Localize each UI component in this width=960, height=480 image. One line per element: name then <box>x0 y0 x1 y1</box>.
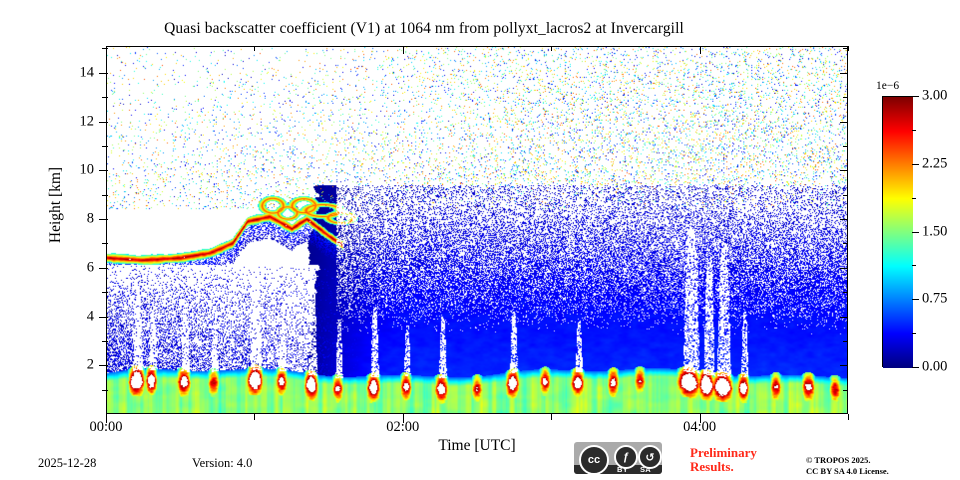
plot-area[interactable] <box>106 46 848 414</box>
cc-by-label: BY <box>617 465 628 474</box>
y-tick-label: 8 <box>52 211 94 228</box>
y-tick-label: 10 <box>52 162 94 179</box>
y-tick-minor-right <box>843 146 848 147</box>
y-tick-minor-right <box>843 390 848 391</box>
footer-version: Version: 4.0 <box>192 456 252 471</box>
y-tick-minor <box>102 146 108 147</box>
copyright-line-2: CC BY SA 4.0 License. <box>806 466 889 477</box>
colorbar-tick-minor <box>912 198 916 199</box>
colorbar-tick-label: 3.00 <box>922 88 947 105</box>
colorbar-tick-minor <box>912 333 916 334</box>
y-tick-major-right <box>840 268 848 269</box>
y-tick-major-right <box>840 219 848 220</box>
y-tick-minor <box>102 390 108 391</box>
y-tick-minor <box>102 97 108 98</box>
preliminary-line-1: Preliminary <box>690 446 757 460</box>
colorbar-tick <box>912 164 919 165</box>
page-title: Quasi backscatter coefficient (V1) at 10… <box>0 20 848 38</box>
preliminary-notice: Preliminary Results. <box>690 446 757 474</box>
y-tick-label: 14 <box>52 64 94 81</box>
colorbar-tick <box>912 367 919 368</box>
y-tick-minor-right <box>843 97 848 98</box>
y-tick-major <box>99 268 108 269</box>
y-tick-major <box>99 317 108 318</box>
y-tick-major-right <box>840 122 848 123</box>
y-tick-minor-right <box>843 243 848 244</box>
y-tick-major-right <box>840 170 848 171</box>
figure-canvas: Quasi backscatter coefficient (V1) at 10… <box>0 0 960 480</box>
y-tick-major <box>99 219 108 220</box>
y-tick-major <box>99 73 108 74</box>
y-tick-minor <box>102 243 108 244</box>
y-tick-minor <box>102 292 108 293</box>
colorbar-tick <box>912 232 919 233</box>
y-tick-minor <box>102 195 108 196</box>
y-tick-minor-right <box>843 195 848 196</box>
cc-logo-icon: cc <box>579 445 609 474</box>
y-tick-major-right <box>840 73 848 74</box>
colorbar-gradient <box>882 96 912 367</box>
y-tick-major-right <box>840 365 848 366</box>
cc-license-badge[interactable]: cc ƒ ↺ BY SA <box>574 442 662 474</box>
y-tick-minor <box>102 48 108 49</box>
y-tick-major <box>99 122 108 123</box>
colorbar-exponent: 1e−6 <box>876 80 899 92</box>
x-tick-major-top <box>700 46 701 54</box>
y-tick-minor <box>102 341 108 342</box>
x-tick-label: 04:00 <box>683 419 716 436</box>
preliminary-line-2: Results. <box>690 460 757 474</box>
x-tick-minor <box>551 414 552 420</box>
lidar-quicklook-heatmap[interactable] <box>107 47 847 413</box>
copyright-notice: © TROPOS 2025. CC BY SA 4.0 License. <box>806 455 889 477</box>
colorbar[interactable]: 0.000.751.502.253.00 <box>882 96 912 367</box>
x-tick-minor <box>848 414 849 420</box>
x-tick-minor-top <box>848 46 849 51</box>
y-tick-major <box>99 365 108 366</box>
x-tick-minor-top <box>551 46 552 51</box>
x-tick-major-top <box>403 46 404 54</box>
copyright-line-1: © TROPOS 2025. <box>806 455 889 466</box>
colorbar-tick-label: 1.50 <box>922 223 947 240</box>
colorbar-tick-minor <box>912 130 916 131</box>
cc-sa-label: SA <box>640 465 651 474</box>
colorbar-tick-minor <box>912 265 916 266</box>
x-tick-label: 00:00 <box>89 419 122 436</box>
colorbar-canvas <box>883 97 913 368</box>
colorbar-tick <box>912 299 919 300</box>
footer-date: 2025-12-28 <box>38 456 96 471</box>
y-tick-label: 12 <box>52 113 94 130</box>
x-tick-minor-top <box>254 46 255 51</box>
colorbar-tick-label: 0.00 <box>922 359 947 376</box>
colorbar-tick <box>912 96 919 97</box>
y-tick-minor-right <box>843 292 848 293</box>
y-tick-major <box>99 170 108 171</box>
y-tick-label: 6 <box>52 259 94 276</box>
x-tick-minor <box>254 414 255 420</box>
x-tick-major-top <box>106 46 107 54</box>
x-tick-label: 02:00 <box>386 419 419 436</box>
y-tick-major-right <box>840 317 848 318</box>
y-tick-minor-right <box>843 341 848 342</box>
colorbar-tick-label: 2.25 <box>922 155 947 172</box>
y-tick-label: 4 <box>52 308 94 325</box>
y-tick-label: 2 <box>52 357 94 374</box>
colorbar-tick-label: 0.75 <box>922 291 947 308</box>
